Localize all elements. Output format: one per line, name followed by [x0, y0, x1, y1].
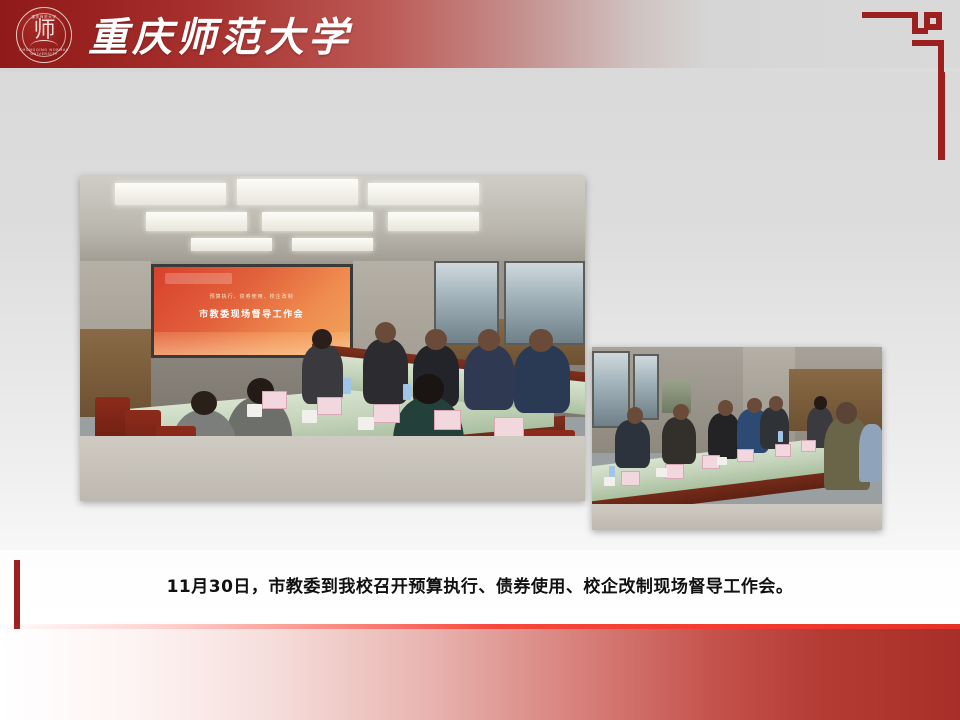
bottom-gradient-band — [0, 629, 960, 720]
university-name-title: 重庆师范大学 — [88, 6, 352, 62]
inset-photo-scene — [592, 347, 882, 530]
screen-logo — [165, 273, 232, 284]
inset-meeting-photo — [592, 347, 882, 530]
corner-ornament-top-right-icon — [862, 12, 948, 160]
main-meeting-photo: 预算执行、债券使用、校企改制 市教委现场督导工作会 — [80, 176, 585, 501]
slide-caption: 11月30日，市教委到我校召开预算执行、债券使用、校企改制现场督导工作会。 — [0, 572, 960, 597]
screen-title: 市教委现场督导工作会 — [154, 307, 350, 320]
slide-canvas: 重庆师范大学 师 CHONGQING NORMAL UNIVERSITY 重庆师… — [0, 0, 960, 720]
seal-center-glyph: 师 — [17, 20, 71, 42]
main-photo-scene: 预算执行、债券使用、校企改制 市教委现场督导工作会 — [80, 176, 585, 501]
header-underline — [0, 68, 960, 72]
screen-subtitle: 预算执行、债券使用、校企改制 — [154, 293, 350, 300]
seal-book-shape — [30, 40, 58, 48]
seal-rim-text-bottom: CHONGQING NORMAL UNIVERSITY — [17, 48, 71, 56]
university-seal-icon: 重庆师范大学 师 CHONGQING NORMAL UNIVERSITY — [16, 7, 72, 63]
right-vertical-rule — [940, 72, 945, 160]
floor — [80, 436, 585, 501]
